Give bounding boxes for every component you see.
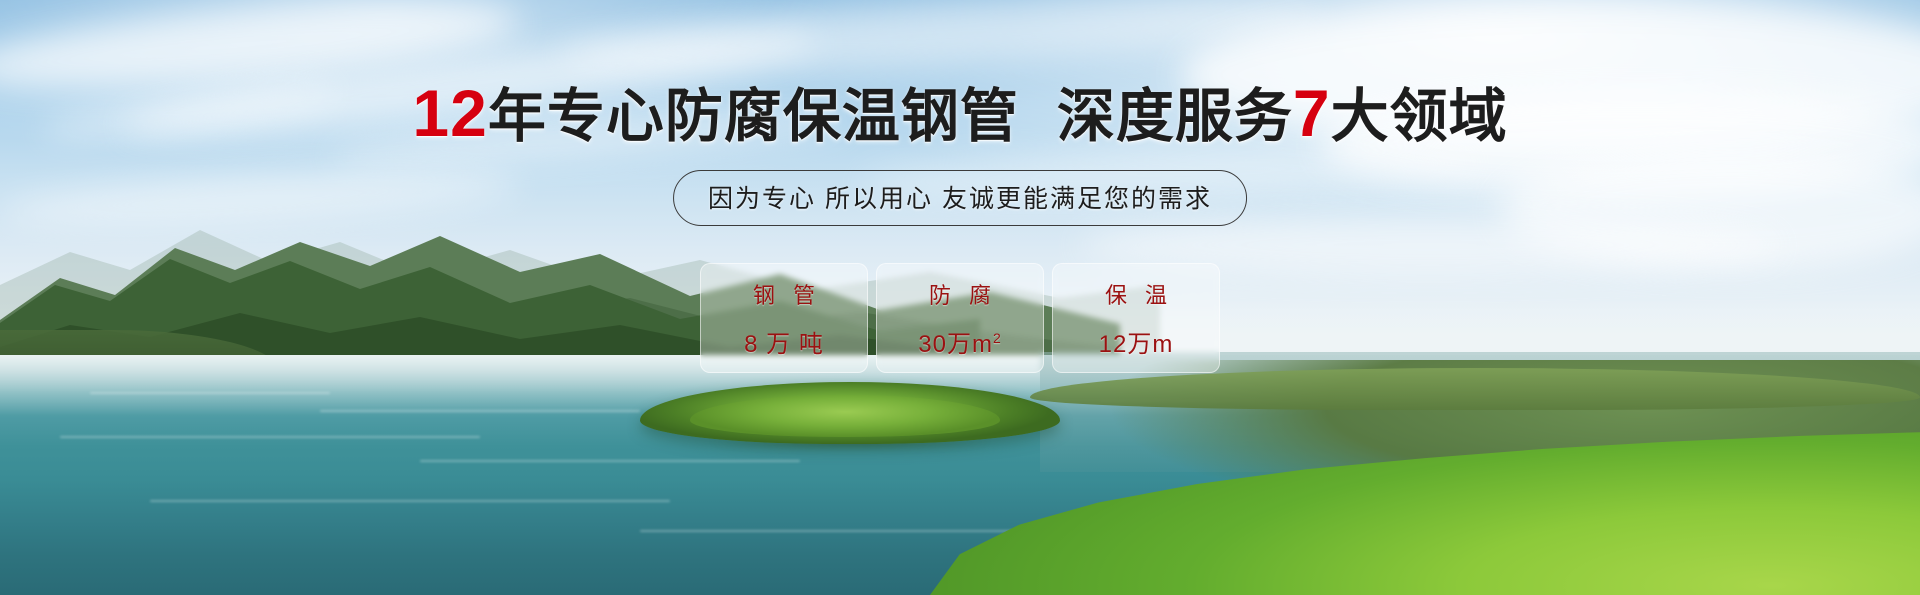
headline-service-text: 深度服务: [1057, 84, 1293, 149]
banner-subtitle-pill: 因为专心 所以用心 友诚更能满足您的需求: [673, 170, 1247, 226]
stat-card-label: 保 温: [1099, 278, 1173, 310]
stat-card-steel-pipe: 钢 管 8 万 吨: [700, 263, 868, 373]
stat-card-group: 钢 管 8 万 吨 防 腐 30万m2 保 温 12万m: [700, 263, 1220, 373]
headline-fields-number: 7: [1293, 76, 1331, 150]
banner-headline: 12年专心防腐保温钢管深度服务7大领域: [0, 80, 1920, 146]
stat-card-value: 8 万 吨: [744, 324, 824, 359]
headline-fields-text: 大领域: [1331, 84, 1508, 149]
stat-card-value: 12万m: [1099, 324, 1174, 359]
headline-main-text: 年专心防腐保温钢管: [488, 84, 1019, 149]
stat-value-text: 8 万 吨: [744, 331, 824, 358]
banner-subtitle-text: 因为专心 所以用心 友诚更能满足您的需求: [708, 179, 1212, 215]
headline-years-number: 12: [412, 76, 487, 150]
stat-card-insulation: 保 温 12万m: [1052, 263, 1220, 373]
stat-value-text: 30万m: [918, 331, 993, 358]
stat-value-superscript: 2: [993, 330, 1002, 346]
banner-content: 12年专心防腐保温钢管深度服务7大领域 因为专心 所以用心 友诚更能满足您的需求…: [0, 0, 1920, 595]
hero-banner: 12年专心防腐保温钢管深度服务7大领域 因为专心 所以用心 友诚更能满足您的需求…: [0, 0, 1920, 595]
stat-card-label: 防 腐: [923, 278, 997, 310]
stat-card-value: 30万m2: [918, 324, 1001, 359]
stat-value-text: 12万m: [1099, 331, 1174, 358]
stat-card-anticorrosion: 防 腐 30万m2: [876, 263, 1044, 373]
stat-card-label: 钢 管: [747, 278, 821, 310]
